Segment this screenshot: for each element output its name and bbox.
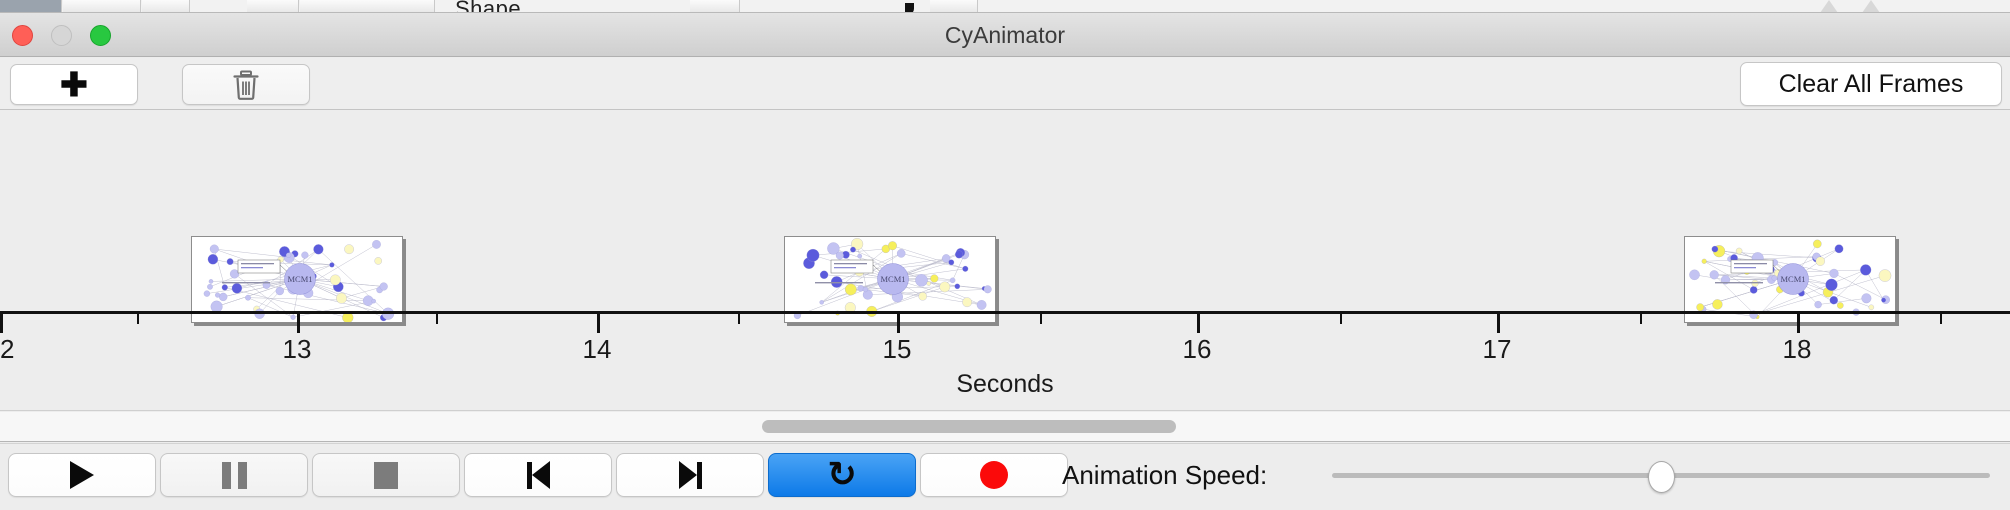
axis-tick	[1640, 314, 1642, 324]
clear-all-frames-button[interactable]: Clear All Frames	[1740, 62, 2002, 106]
add-frame-button[interactable]: ✚	[10, 64, 138, 105]
skip-forward-icon	[679, 461, 702, 489]
window-title: CyAnimator	[0, 13, 2010, 57]
bg-chip	[63, 0, 141, 13]
bg-chip	[300, 0, 435, 13]
axis-tick	[436, 314, 438, 324]
stop-icon	[374, 462, 398, 489]
axis-tick	[1040, 314, 1042, 324]
play-button[interactable]	[8, 453, 156, 497]
axis-tick-label: 12	[0, 334, 14, 365]
animation-speed-slider[interactable]	[1332, 453, 1990, 497]
axis-tick	[1340, 314, 1342, 324]
bg-chip	[0, 0, 62, 13]
timeline-horizontal-scrollbar[interactable]	[0, 412, 2010, 442]
axis-tick-label: 13	[283, 334, 312, 365]
plus-icon: ✚	[60, 68, 88, 101]
bg-chip	[690, 0, 740, 13]
axis-tick	[1797, 314, 1800, 333]
pause-button[interactable]	[160, 453, 308, 497]
loop-icon: ↻	[827, 458, 856, 493]
svg-text:MCM1: MCM1	[287, 274, 312, 284]
delete-frame-button[interactable]	[182, 64, 310, 105]
next-frame-button[interactable]	[616, 453, 764, 497]
stop-button[interactable]	[312, 453, 460, 497]
timeline-panel[interactable]: MCM1MCM1MCM1 12131415161718 Seconds	[0, 110, 2010, 411]
bg-triangle-icon	[1862, 0, 1880, 13]
axis-tick	[297, 314, 300, 333]
window-titlebar: CyAnimator	[0, 13, 2010, 57]
timeline-axis-title: Seconds	[0, 370, 2010, 399]
axis-tick-label: 16	[1183, 334, 1212, 365]
record-icon	[980, 461, 1008, 489]
axis-tick	[0, 314, 3, 333]
axis-tick	[1197, 314, 1200, 333]
bg-chip	[247, 0, 299, 13]
bg-shape-label: Shape	[455, 0, 521, 13]
animation-speed-label: Animation Speed:	[1062, 453, 1267, 497]
timeline-frame-thumbnail[interactable]: MCM1	[191, 236, 403, 323]
pause-icon	[222, 462, 247, 489]
bg-chip	[930, 0, 978, 13]
axis-tick-label: 17	[1483, 334, 1512, 365]
skip-back-icon	[527, 461, 550, 489]
trash-icon	[232, 70, 260, 100]
axis-tick-label: 18	[1783, 334, 1812, 365]
timeline-frame-thumbnail[interactable]: MCM1	[784, 236, 996, 323]
slider-thumb[interactable]	[1648, 461, 1675, 493]
frames-toolbar: ✚ Clear All Frames	[0, 58, 2010, 110]
timeline-frame-thumbnail[interactable]: MCM1	[1684, 236, 1896, 323]
record-button[interactable]	[920, 453, 1068, 497]
bg-cursor-mark	[905, 3, 914, 13]
bg-triangle-icon	[1820, 0, 1838, 13]
loop-button[interactable]: ↻	[768, 453, 916, 497]
play-icon	[70, 461, 94, 489]
background-window-strip: Shape	[0, 0, 2010, 13]
axis-tick	[1497, 314, 1500, 333]
axis-tick	[738, 314, 740, 324]
axis-tick	[1940, 314, 1942, 324]
svg-text:MCM1: MCM1	[880, 274, 905, 284]
axis-tick-label: 15	[883, 334, 912, 365]
bg-chip	[142, 0, 190, 13]
axis-tick	[897, 314, 900, 333]
axis-tick-label: 14	[583, 334, 612, 365]
playback-toolbar: ↻ Animation Speed:	[0, 443, 2010, 510]
axis-tick	[137, 314, 139, 324]
timeline-axis	[0, 311, 2010, 314]
axis-tick	[597, 314, 600, 333]
scrollbar-thumb[interactable]	[762, 420, 1176, 433]
svg-text:MCM1: MCM1	[1780, 274, 1805, 284]
previous-frame-button[interactable]	[464, 453, 612, 497]
